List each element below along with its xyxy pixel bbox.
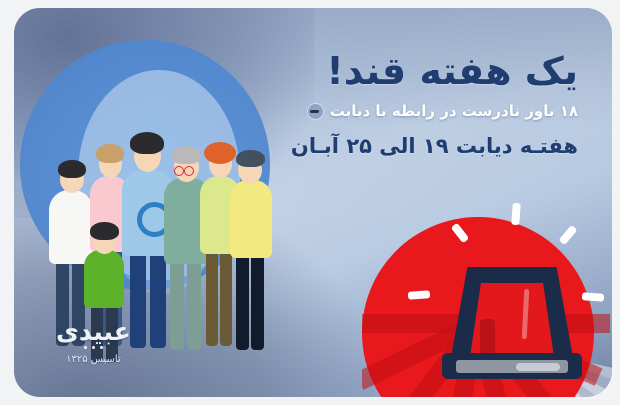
poster-card: یک هفته قند! ۱۸ باور نادرست در رابطه با … [14, 8, 612, 397]
poster-subtitle: ۱۸ باور نادرست در رابطه با دیابت [330, 102, 578, 122]
circular-badge-icon [307, 103, 324, 120]
glasses-icon [174, 166, 184, 176]
poster-text-block: یک هفته قند! ۱۸ باور نادرست در رابطه با … [218, 52, 578, 158]
page-title: یک هفته قند! [218, 52, 578, 92]
brand-logo: عبیدی تاسیس ۱۳۲۵ [56, 319, 131, 365]
siren-housing [450, 269, 574, 379]
red-emergency-siren-illustration [362, 167, 612, 397]
poster-subtitle-row: ۱۸ باور نادرست در رابطه با دیابت [218, 102, 578, 122]
siren-base [442, 353, 582, 379]
brand-logo-wordmark: عبیدی [56, 319, 131, 344]
poster-dateline: هفتـه دیابت ۱۹ الی ۲۵ آبـان [218, 134, 578, 158]
siren-base-highlight [516, 363, 560, 371]
brand-logo-dots [56, 346, 131, 350]
poster-surround: یک هفته قند! ۱۸ باور نادرست در رابطه با … [0, 0, 620, 405]
brand-logo-founded: تاسیس ۱۳۲۵ [56, 354, 131, 365]
